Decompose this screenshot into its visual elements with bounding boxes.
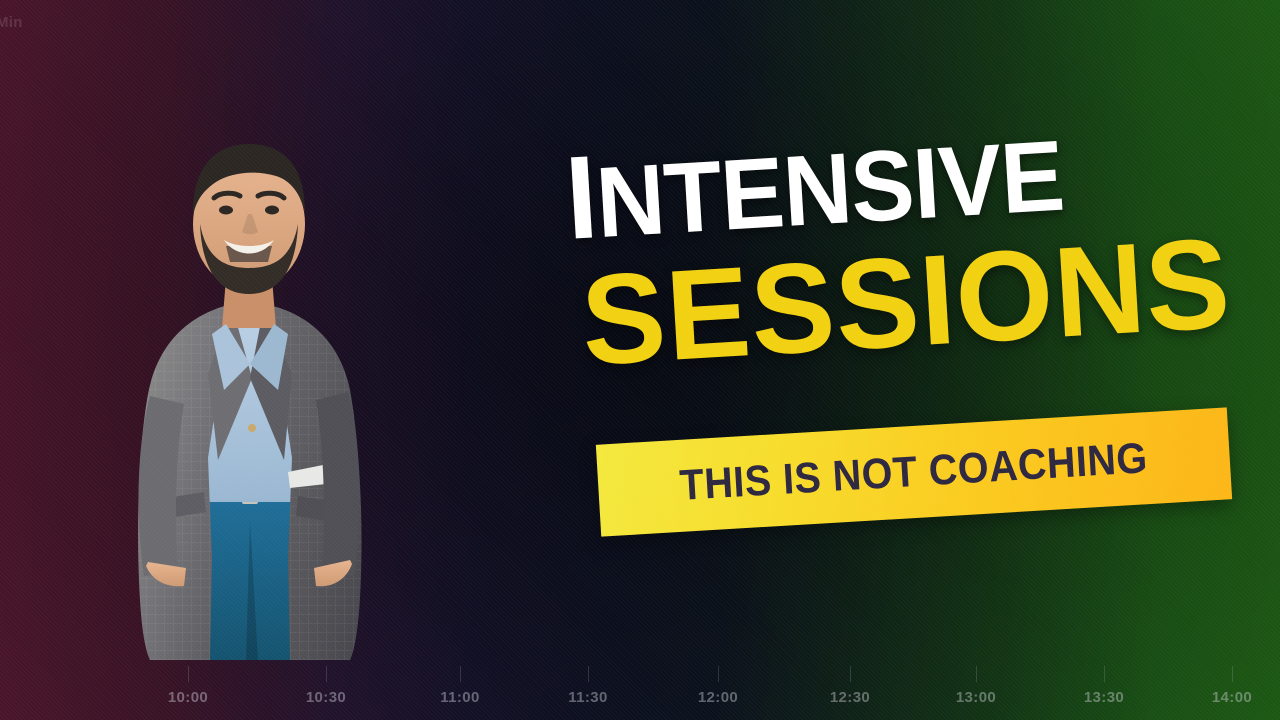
axis-tick [326,666,327,682]
axis-tick [460,666,461,682]
chart-interval-label: Min [0,14,23,31]
poster-canvas: Min 10:0010:3011:0011:3012:0012:3013:001… [0,0,1280,720]
axis-tick-label: 14:00 [1212,689,1252,706]
axis-tick-label: 11:30 [568,689,608,706]
subtitle-banner-text: THIS IS NOT COACHING [679,437,1149,508]
axis-tick [588,666,589,682]
axis-tick [718,666,719,682]
chart-x-axis: 10:0010:3011:0011:3012:0012:3013:0013:30… [0,682,1280,712]
axis-tick-label: 13:00 [956,689,996,706]
axis-tick [976,666,977,682]
axis-tick [1104,666,1105,682]
axis-tick [188,666,189,682]
axis-tick-label: 12:00 [698,689,738,706]
axis-tick [850,666,851,682]
axis-tick-label: 10:00 [168,689,208,706]
subtitle-banner: THIS IS NOT COACHING [596,407,1232,536]
axis-tick-label: 11:00 [440,689,480,706]
axis-tick-label: 12:30 [830,689,870,706]
headline-sessions: SESSIONS [578,220,1234,386]
axis-tick-label: 10:30 [306,689,346,706]
axis-tick-label: 13:30 [1084,689,1124,706]
presenter-photo [92,128,402,660]
axis-tick [1232,666,1233,682]
headline-group: INTENSIVE SESSIONS THIS IS NOT COACHING [548,140,1248,560]
